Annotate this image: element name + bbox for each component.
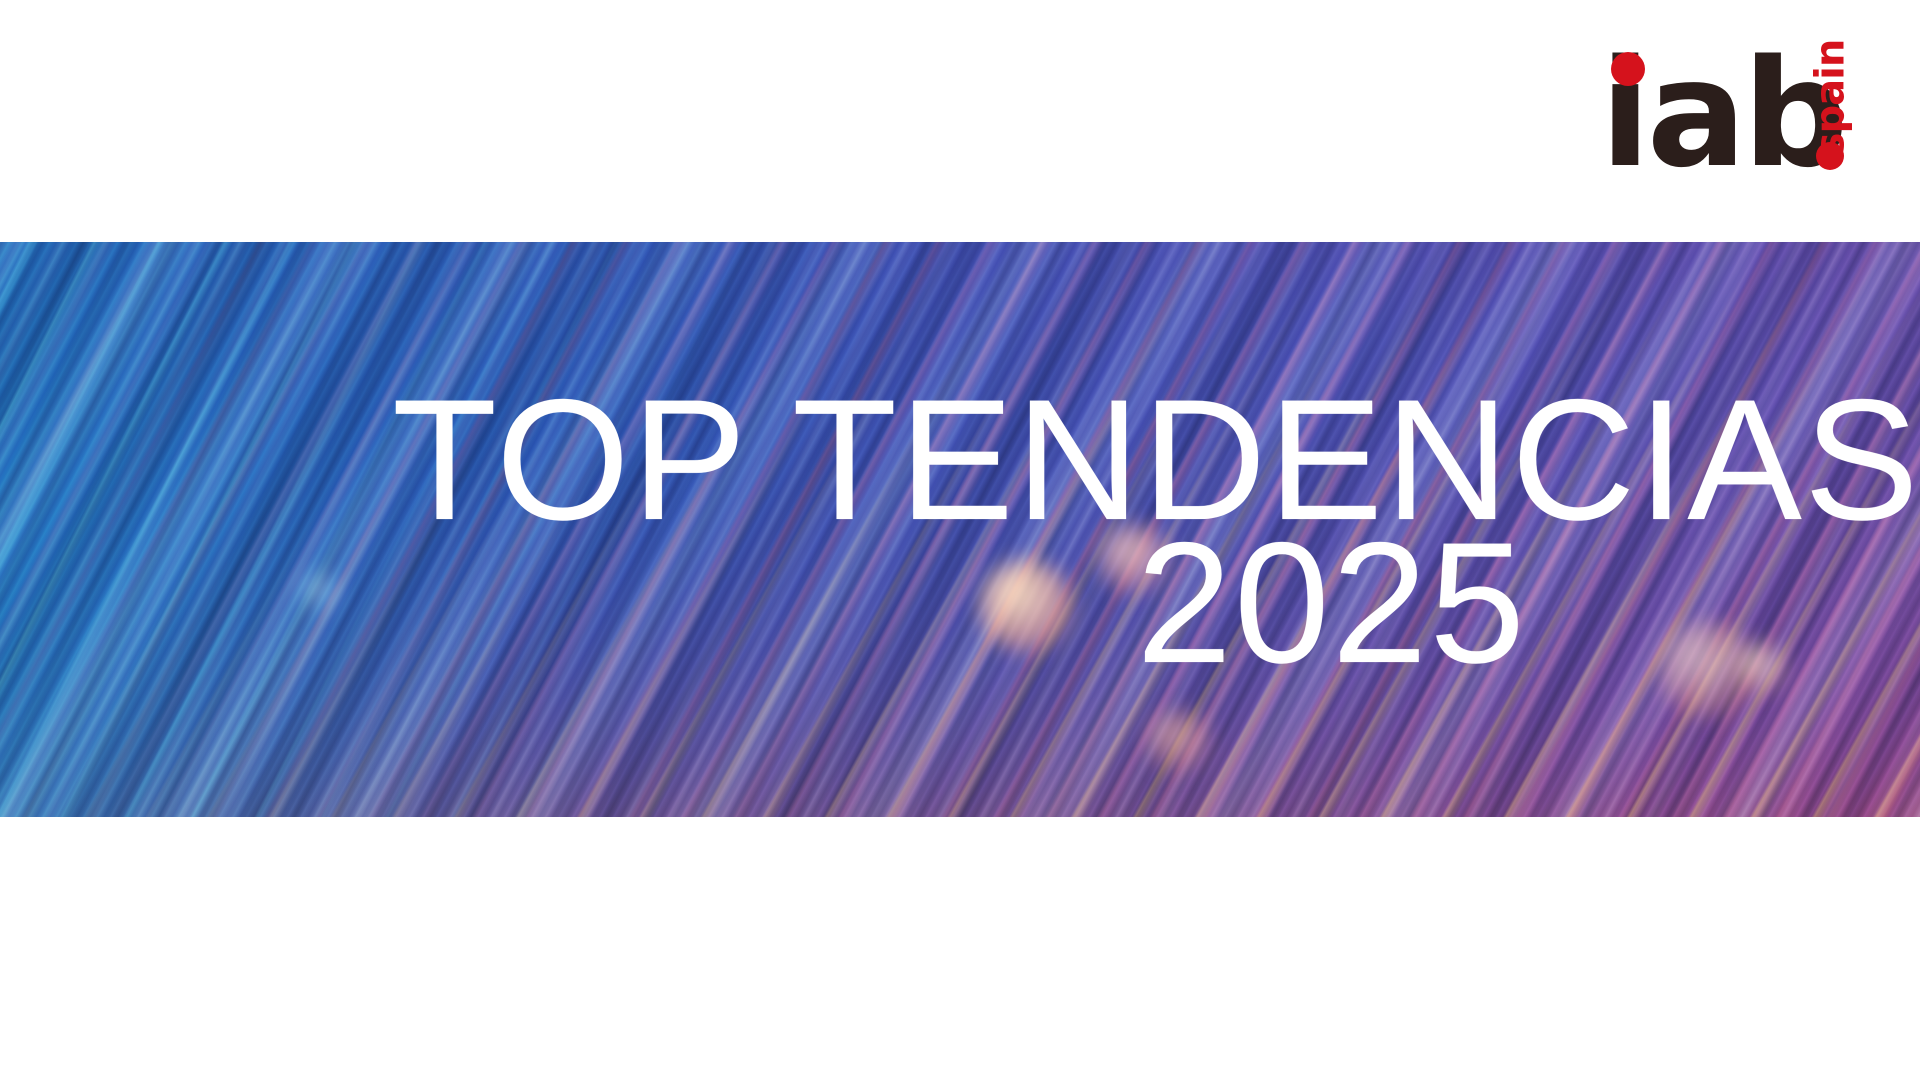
presentation-cover-slide: iab spain TOP TENDENCIAS 2025 (0, 0, 1920, 1080)
bokeh-circle (1148, 710, 1210, 772)
bokeh-circle (1735, 642, 1787, 694)
iab-spain-logo[interactable]: iab spain (1600, 34, 1880, 184)
spain-suffix-wrap: spain (1810, 36, 1856, 158)
hero-bg-dark-vignette (0, 242, 1920, 817)
spain-wordmark: spain (1810, 40, 1850, 157)
spain-red-dot-icon (1816, 142, 1844, 170)
hero-banner: TOP TENDENCIAS 2025 (0, 242, 1920, 817)
bokeh-circle (1100, 524, 1170, 594)
iab-red-dot-icon (1611, 52, 1645, 86)
sponsor-section: PATROCINA: devinta fotocasa habit (0, 817, 1920, 1080)
bokeh-circle (980, 560, 1072, 652)
bokeh-circle (300, 572, 340, 612)
